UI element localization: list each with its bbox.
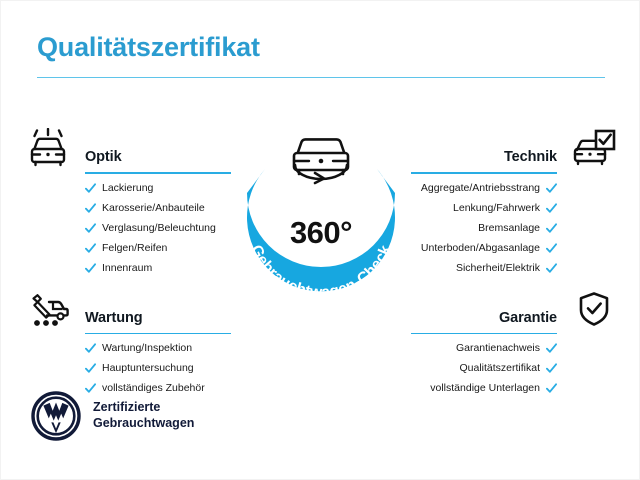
list-item: Wartung/Inspektion (85, 343, 231, 354)
list-item: Lenkung/Fahrwerk (411, 203, 557, 214)
certificate-page: Qualitätszertifikat (0, 0, 640, 480)
check-icon (546, 383, 557, 394)
wrench-car-icon (25, 288, 77, 330)
list-item-label: Sicherheit/Elektrik (456, 263, 540, 274)
check-icon (546, 223, 557, 234)
list-item: Unterboden/Abgasanlage (411, 243, 557, 254)
section-garantie: Garantie Garantienachweis Qualitätszerti… (411, 288, 619, 395)
list-item-label: Hauptuntersuchung (102, 363, 194, 374)
section-optik-header: Optik (23, 127, 231, 171)
check-icon (546, 203, 557, 214)
section-wartung-title: Wartung (85, 310, 143, 326)
check-icon (546, 343, 557, 354)
section-garantie-title: Garantie (499, 310, 557, 326)
section-technik-list: Aggregate/Antriebsstrang Lenkung/Fahrwer… (411, 183, 619, 274)
car-rotate-icon (294, 139, 348, 183)
check-icon (546, 263, 557, 274)
list-item-label: Aggregate/Antriebsstrang (421, 183, 540, 194)
list-item-label: Innenraum (102, 263, 152, 274)
section-garantie-divider (411, 333, 557, 335)
check-icon (85, 223, 96, 234)
list-item: Qualitätszertifikat (411, 363, 557, 374)
list-item: Bremsanlage (411, 223, 557, 234)
section-optik-divider (85, 172, 231, 174)
badge-degrees-label: 360° (225, 215, 417, 251)
list-item: Innenraum (85, 263, 231, 274)
badge-360-gebrauchtwagen-check: Gebrauchtwagen-Check 360° (225, 119, 417, 319)
list-item: Lackierung (85, 183, 231, 194)
check-icon (85, 243, 96, 254)
list-item-label: Garantienachweis (456, 343, 540, 354)
footer-line-2: Gebrauchtwagen (93, 416, 194, 432)
section-garantie-header: Garantie (411, 288, 619, 332)
list-item-label: Lenkung/Fahrwerk (453, 203, 540, 214)
check-icon (546, 363, 557, 374)
page-title: Qualitätszertifikat (37, 33, 605, 63)
list-item-label: vollständige Unterlagen (430, 383, 540, 394)
list-item-label: Lackierung (102, 183, 153, 194)
list-item: Felgen/Reifen (85, 243, 231, 254)
section-technik-divider (411, 172, 557, 174)
sparkling-car-icon (25, 127, 77, 169)
list-item: Verglasung/Beleuchtung (85, 223, 231, 234)
list-item-label: Unterboden/Abgasanlage (421, 243, 540, 254)
list-item-label: Karosserie/Anbauteile (102, 203, 205, 214)
section-garantie-list: Garantienachweis Qualitätszertifikat vol… (411, 343, 619, 394)
section-wartung-divider (85, 333, 231, 335)
section-technik: Technik Aggregate/Antriebsstrang Lenkung… (411, 127, 619, 274)
check-icon (546, 183, 557, 194)
check-icon (85, 363, 96, 374)
list-item-label: Qualitätszertifikat (459, 363, 540, 374)
title-block: Qualitätszertifikat (37, 33, 605, 78)
list-item-label: Wartung/Inspektion (102, 343, 192, 354)
list-item: Aggregate/Antriebsstrang (411, 183, 557, 194)
check-icon (85, 183, 96, 194)
shield-check-icon (565, 288, 617, 330)
section-technik-title: Technik (504, 149, 557, 165)
right-column: Technik Aggregate/Antriebsstrang Lenkung… (411, 127, 619, 403)
section-wartung-header: Wartung (23, 288, 231, 332)
footer-text: Zertifizierte Gebrauchtwagen (93, 400, 194, 431)
list-item: Garantienachweis (411, 343, 557, 354)
list-item-label: Bremsanlage (478, 223, 540, 234)
list-item-label: Verglasung/Beleuchtung (102, 223, 216, 234)
section-wartung: Wartung Wartung/Inspektion Hauptuntersuc… (23, 288, 231, 395)
list-item: Sicherheit/Elektrik (411, 263, 557, 274)
section-optik: Optik Lackierung Karosserie/Anbauteile (23, 127, 231, 274)
list-item: vollständige Unterlagen (411, 383, 557, 394)
section-optik-list: Lackierung Karosserie/Anbauteile Verglas… (23, 183, 231, 274)
check-icon (85, 263, 96, 274)
list-item: Karosserie/Anbauteile (85, 203, 231, 214)
volkswagen-logo (31, 391, 81, 441)
car-checkbox-icon (565, 127, 617, 169)
title-divider (37, 77, 605, 79)
check-icon (85, 343, 96, 354)
footer-line-1: Zertifizierte (93, 400, 194, 416)
list-item-label: Felgen/Reifen (102, 243, 167, 254)
left-column: Optik Lackierung Karosserie/Anbauteile (23, 127, 231, 403)
check-icon (85, 203, 96, 214)
check-icon (546, 243, 557, 254)
section-optik-title: Optik (85, 149, 122, 165)
section-wartung-list: Wartung/Inspektion Hauptuntersuchung vol… (23, 343, 231, 394)
footer-branding: Zertifizierte Gebrauchtwagen (31, 391, 194, 441)
section-technik-header: Technik (411, 127, 619, 171)
list-item: Hauptuntersuchung (85, 363, 231, 374)
